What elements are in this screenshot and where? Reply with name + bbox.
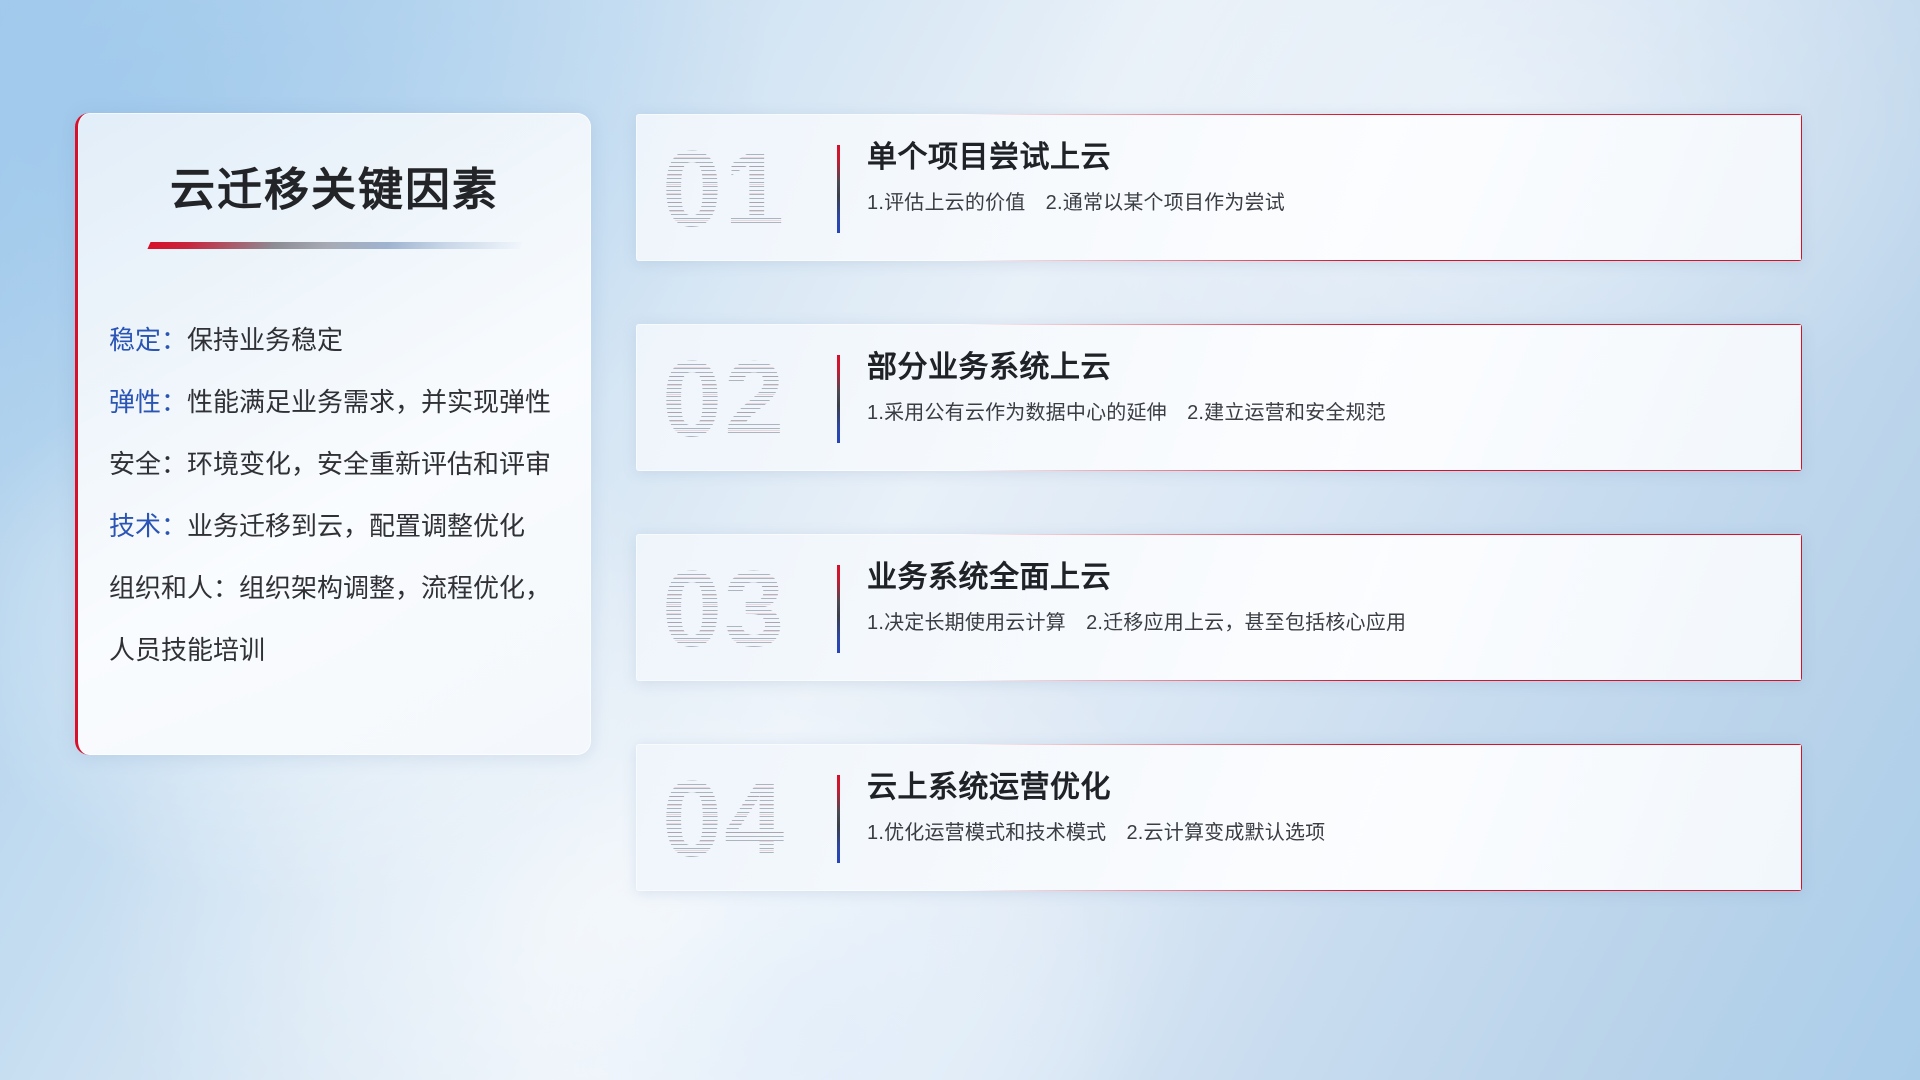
slide-canvas: 云迁移关键因素 稳定：保持业务稳定 弹性：性能满足业务需求，并实现弹性 安全：环… (0, 0, 1920, 1080)
factor-text: 环境变化，安全重新评估和评审 (187, 449, 551, 479)
key-factors-panel: 云迁移关键因素 稳定：保持业务稳定 弹性：性能满足业务需求，并实现弹性 安全：环… (75, 113, 591, 755)
title-underline-rule (147, 242, 522, 249)
step-title: 业务系统全面上云 (867, 556, 1778, 600)
factor-label: 技术： (109, 511, 187, 541)
card-divider-bar (837, 565, 840, 653)
step-card-body: 单个项目尝试上云 1.评估上云的价值 2.通常以某个项目作为尝试 (867, 136, 1778, 217)
step-card-body: 业务系统全面上云 1.决定长期使用云计算 2.迁移应用上云，甚至包括核心应用 (867, 556, 1778, 637)
step-card-list: 01 01 单个项目尝试上云 1.评估上云的价值 2.通常以某个项目作为尝试 0… (636, 114, 1802, 891)
step-card[interactable]: 01 01 单个项目尝试上云 1.评估上云的价值 2.通常以某个项目作为尝试 (636, 114, 1802, 261)
step-card[interactable]: 04 04 云上系统运营优化 1.优化运营模式和技术模式 2.云计算变成默认选项 (636, 744, 1802, 891)
factor-text: 业务迁移到云，配置调整优化 (187, 511, 525, 541)
factor-label: 稳定： (109, 325, 187, 355)
card-divider-bar (837, 145, 840, 233)
factor-label: 安全： (109, 449, 187, 479)
step-subtitle: 1.决定长期使用云计算 2.迁移应用上云，甚至包括核心应用 (867, 609, 1778, 637)
factor-label: 弹性： (109, 387, 187, 417)
step-title: 单个项目尝试上云 (867, 136, 1778, 180)
card-divider-bar (837, 775, 840, 863)
step-number: 01 (662, 130, 852, 248)
factor-item: 稳定：保持业务稳定 (109, 309, 561, 371)
step-subtitle: 1.优化运营模式和技术模式 2.云计算变成默认选项 (867, 819, 1778, 847)
factor-item: 技术：业务迁移到云，配置调整优化 (109, 495, 561, 557)
step-card[interactable]: 02 02 部分业务系统上云 1.采用公有云作为数据中心的延伸 2.建立运营和安… (636, 324, 1802, 471)
factor-item: 安全：环境变化，安全重新评估和评审 (109, 433, 561, 495)
factor-item: 弹性：性能满足业务需求，并实现弹性 (109, 371, 561, 433)
factor-text: 保持业务稳定 (187, 325, 343, 355)
step-card-body: 云上系统运营优化 1.优化运营模式和技术模式 2.云计算变成默认选项 (867, 766, 1778, 847)
factor-item: 组织和人：组织架构调整，流程优化，人员技能培训 (109, 557, 561, 681)
step-subtitle: 1.评估上云的价值 2.通常以某个项目作为尝试 (867, 189, 1778, 217)
step-title: 部分业务系统上云 (867, 346, 1778, 390)
factor-list: 稳定：保持业务稳定 弹性：性能满足业务需求，并实现弹性 安全：环境变化，安全重新… (109, 309, 561, 681)
step-title: 云上系统运营优化 (867, 766, 1778, 810)
step-number: 03 (662, 550, 852, 668)
step-number: 04 (662, 760, 852, 878)
factor-label: 组织和人： (109, 573, 239, 603)
panel-title: 云迁移关键因素 (78, 153, 591, 218)
card-divider-bar (837, 355, 840, 443)
step-subtitle: 1.采用公有云作为数据中心的延伸 2.建立运营和安全规范 (867, 399, 1778, 427)
step-card-body: 部分业务系统上云 1.采用公有云作为数据中心的延伸 2.建立运营和安全规范 (867, 346, 1778, 427)
step-card[interactable]: 03 03 业务系统全面上云 1.决定长期使用云计算 2.迁移应用上云，甚至包括… (636, 534, 1802, 681)
factor-text: 性能满足业务需求，并实现弹性 (187, 387, 551, 417)
step-number: 02 (662, 340, 852, 458)
